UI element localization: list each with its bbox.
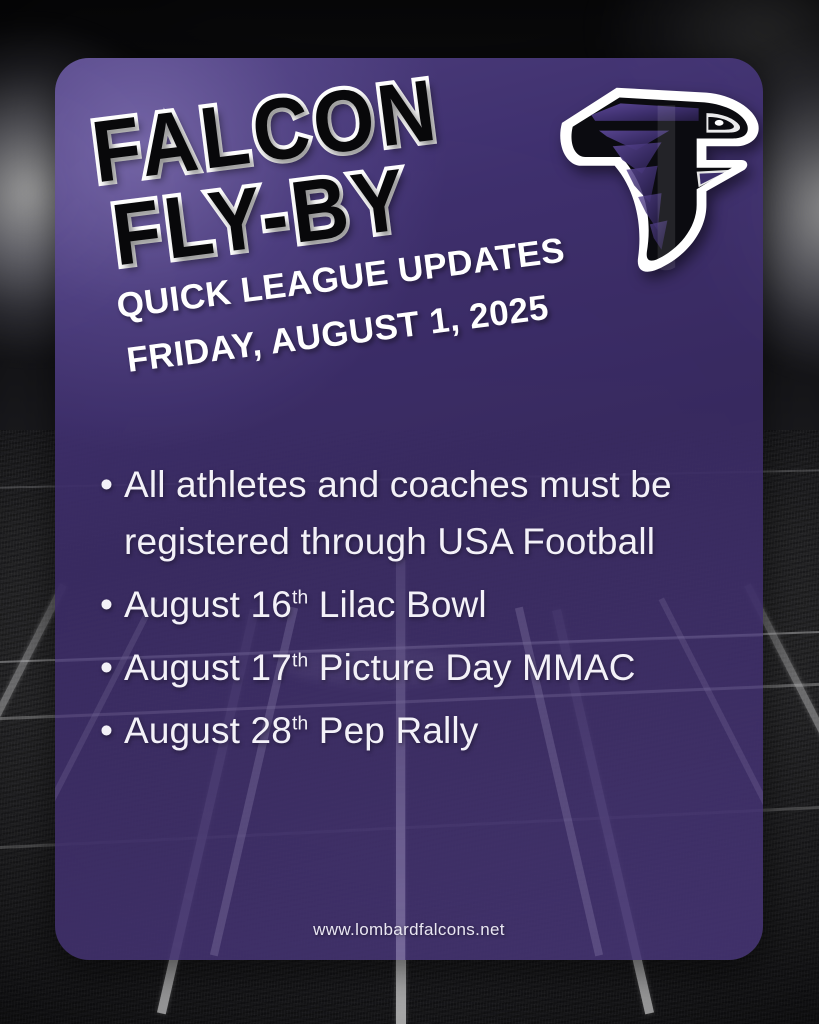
announcement-card: FALCON FLY-BY QUICK LEAGUE UPDATES FRIDA… bbox=[55, 58, 763, 960]
bullet-marker: • bbox=[100, 639, 124, 696]
bullet-marker: • bbox=[100, 576, 124, 633]
list-item-date: August 16 bbox=[124, 584, 292, 625]
ordinal-suffix: th bbox=[292, 651, 308, 672]
list-item-event: Picture Day MMAC bbox=[308, 647, 635, 688]
list-item-text: August 28th Pep Rally bbox=[124, 702, 478, 759]
list-item-event: Lilac Bowl bbox=[308, 584, 486, 625]
ordinal-suffix: th bbox=[292, 588, 308, 609]
list-item: • August 17th Picture Day MMAC bbox=[100, 639, 740, 696]
list-item: • All athletes and coaches must be regis… bbox=[100, 456, 740, 570]
ordinal-suffix: th bbox=[292, 714, 308, 735]
list-item: • August 28th Pep Rally bbox=[100, 702, 740, 759]
list-item-text: August 17th Picture Day MMAC bbox=[124, 639, 636, 696]
list-item-date: August 28 bbox=[124, 710, 292, 751]
list-item-text: August 16th Lilac Bowl bbox=[124, 576, 487, 633]
list-item-event: Pep Rally bbox=[308, 710, 478, 751]
falcon-logo bbox=[560, 76, 763, 281]
list-item-text: All athletes and coaches must be registe… bbox=[124, 456, 740, 570]
website-url[interactable]: www.lombardfalcons.net bbox=[55, 920, 763, 940]
list-item: • August 16th Lilac Bowl bbox=[100, 576, 740, 633]
bullet-marker: • bbox=[100, 456, 124, 513]
list-item-date: August 17 bbox=[124, 647, 292, 688]
bullet-marker: • bbox=[100, 702, 124, 759]
updates-list: • All athletes and coaches must be regis… bbox=[100, 456, 740, 765]
